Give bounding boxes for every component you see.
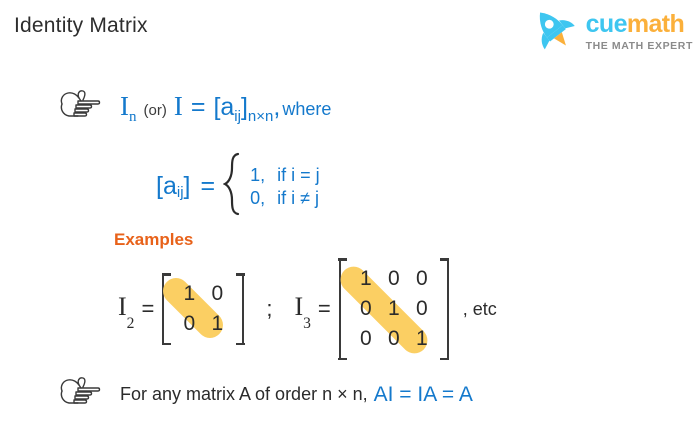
matrix-cell: 0 [380, 324, 408, 354]
property-row: For any matrix A of order n × n, AI = IA… [56, 375, 473, 414]
matrix-label-i2: I2 [118, 292, 134, 326]
brand-wordmark: cuemath THE MATH EXPERT [586, 12, 693, 52]
left-curly-brace-icon [223, 152, 243, 221]
brand-tagline: THE MATH EXPERT [586, 41, 693, 52]
bracket-serif-bottom-right [236, 343, 245, 346]
matrix-label-i3-symbol: I [294, 292, 303, 321]
or-text: (or) [144, 102, 167, 119]
close-bracket: ] [241, 93, 248, 122]
piecewise-element-subscript: ij [177, 184, 184, 201]
matrix-cell: 0 [352, 294, 380, 324]
piecewise-cases: 1,if i = j 0,if i ≠ j [250, 165, 320, 209]
matrix-cell: 0 [408, 294, 436, 324]
open-bracket: [ [213, 93, 220, 122]
definition-row: In (or) I = [aij]n×n, where [56, 88, 331, 127]
property-text: For any matrix A of order n × n, [120, 384, 368, 405]
examples-heading: Examples [114, 230, 193, 250]
examples-trailing-text: , etc [463, 299, 497, 320]
matrix-i3-grid: 1 0 0 0 1 0 0 0 1 [352, 264, 436, 354]
matrix-i3: 1 0 0 0 1 0 0 0 1 [339, 258, 449, 360]
bracket-serif-top-right [236, 273, 245, 276]
brand-word-cue: cue [586, 10, 627, 38]
element-symbol: a [220, 93, 234, 122]
examples-row: I2 = 1 0 0 1 ; I3 = 1 0 0 0 [118, 258, 497, 360]
identity-symbol-alt: I [174, 93, 183, 120]
matrix-label-i2-subscript: 2 [127, 315, 135, 332]
piecewise-definition-row: [aij] = 1,if i = j 0,if i ≠ j [156, 152, 320, 221]
examples-separator: ; [266, 296, 272, 322]
matrix-cell: 0 [175, 309, 203, 339]
matrix-i3-equals: = [318, 296, 331, 322]
brand-word-math: math [627, 10, 684, 38]
identity-definition-formula: In (or) I = [aij]n×n, where [120, 93, 331, 122]
property-formula: AI = IA = A [374, 383, 473, 407]
bracket-serif-bottom-right [440, 358, 449, 361]
page-title: Identity Matrix [14, 14, 148, 38]
matrix-cell: 0 [380, 264, 408, 294]
matrix-i2-grid: 1 0 0 1 [175, 279, 231, 339]
where-text: where [282, 99, 331, 120]
matrix-cell: 1 [380, 294, 408, 324]
piecewise-case-2-condition: if i ≠ j [277, 188, 319, 208]
piecewise-open-bracket: [ [156, 172, 163, 201]
bracket-serif-top-right [440, 258, 449, 261]
matrix-cell: 1 [203, 309, 231, 339]
dimension-subscript: n×n [248, 108, 273, 125]
piecewise-close-bracket: ] [184, 172, 191, 201]
matrix-expression-i2: I2 = 1 0 0 1 [118, 273, 244, 345]
brand-logo: cuemath THE MATH EXPERT [527, 6, 693, 57]
piecewise-case-1-condition: if i = j [277, 165, 320, 185]
matrix-i2-equals: = [141, 296, 154, 322]
matrix-cell: 0 [352, 324, 380, 354]
equals-sign: = [191, 93, 206, 122]
matrix-cell: 0 [203, 279, 231, 309]
matrix-cell: 1 [408, 324, 436, 354]
identity-symbol: I [120, 93, 129, 120]
piecewise-left-side: [aij] = [156, 172, 215, 201]
identity-symbol-subscript: n [129, 110, 137, 125]
piecewise-equals: = [200, 172, 215, 201]
piecewise-case-1-value: 1, [250, 165, 265, 185]
matrix-label-i3: I3 [294, 292, 310, 326]
brand-wordmark-line: cuemath [586, 12, 693, 37]
piecewise-case-2: 0,if i ≠ j [250, 188, 320, 209]
matrix-cell: 1 [352, 264, 380, 294]
matrix-cell: 0 [408, 264, 436, 294]
pointing-hand-icon [56, 375, 104, 414]
piecewise-element: a [163, 172, 177, 201]
comma: , [273, 93, 280, 122]
pointing-hand-icon [56, 88, 104, 127]
element-subscript: ij [234, 108, 241, 125]
matrix-i2: 1 0 0 1 [162, 273, 244, 345]
piecewise-case-1: 1,if i = j [250, 165, 320, 186]
matrix-cell: 1 [175, 279, 203, 309]
matrix-label-i2-symbol: I [118, 292, 127, 321]
rocket-icon [527, 6, 579, 57]
piecewise-case-2-value: 0, [250, 188, 265, 208]
matrix-label-i3-subscript: 3 [303, 315, 311, 332]
matrix-expression-i3: I3 = 1 0 0 0 1 0 0 0 1 [294, 258, 448, 360]
